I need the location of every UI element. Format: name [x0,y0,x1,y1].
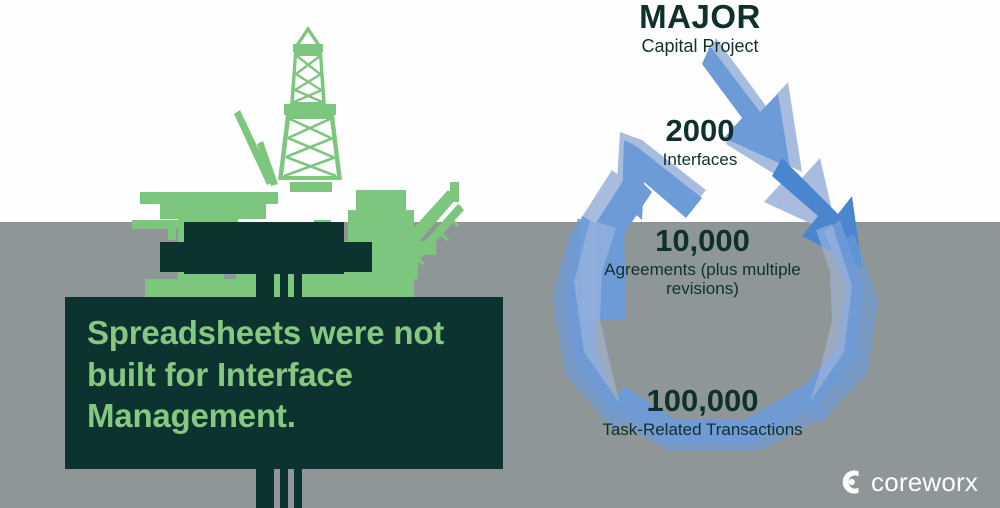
label-major-capital-project: MAJOR Capital Project [590,0,810,56]
coreworx-wordmark: coreworx [871,469,978,495]
headline-text: Spreadsheets were not built for Interfac… [87,312,487,437]
infographic-canvas: Spreadsheets were not built for Interfac… [0,0,1000,508]
transactions-value: 100,000 [595,385,810,417]
headline-panel: Spreadsheets were not built for Interfac… [65,297,503,469]
label-task-related-transactions: 100,000 Task-Related Transactions [595,385,810,439]
major-caption: Capital Project [590,36,810,56]
agreements-value: 10,000 [595,225,810,257]
transactions-caption: Task-Related Transactions [595,420,810,439]
interfaces-caption: Interfaces [600,150,800,169]
coreworx-logo: coreworx [838,466,988,498]
agreements-caption: Agreements (plus multiple revisions) [595,260,810,298]
coreworx-c-mark-icon [838,469,864,495]
label-agreements: 10,000 Agreements (plus multiple revisio… [595,225,810,298]
label-interfaces: 2000 Interfaces [600,115,800,169]
major-value: MAJOR [590,0,810,34]
interfaces-value: 2000 [600,115,800,147]
